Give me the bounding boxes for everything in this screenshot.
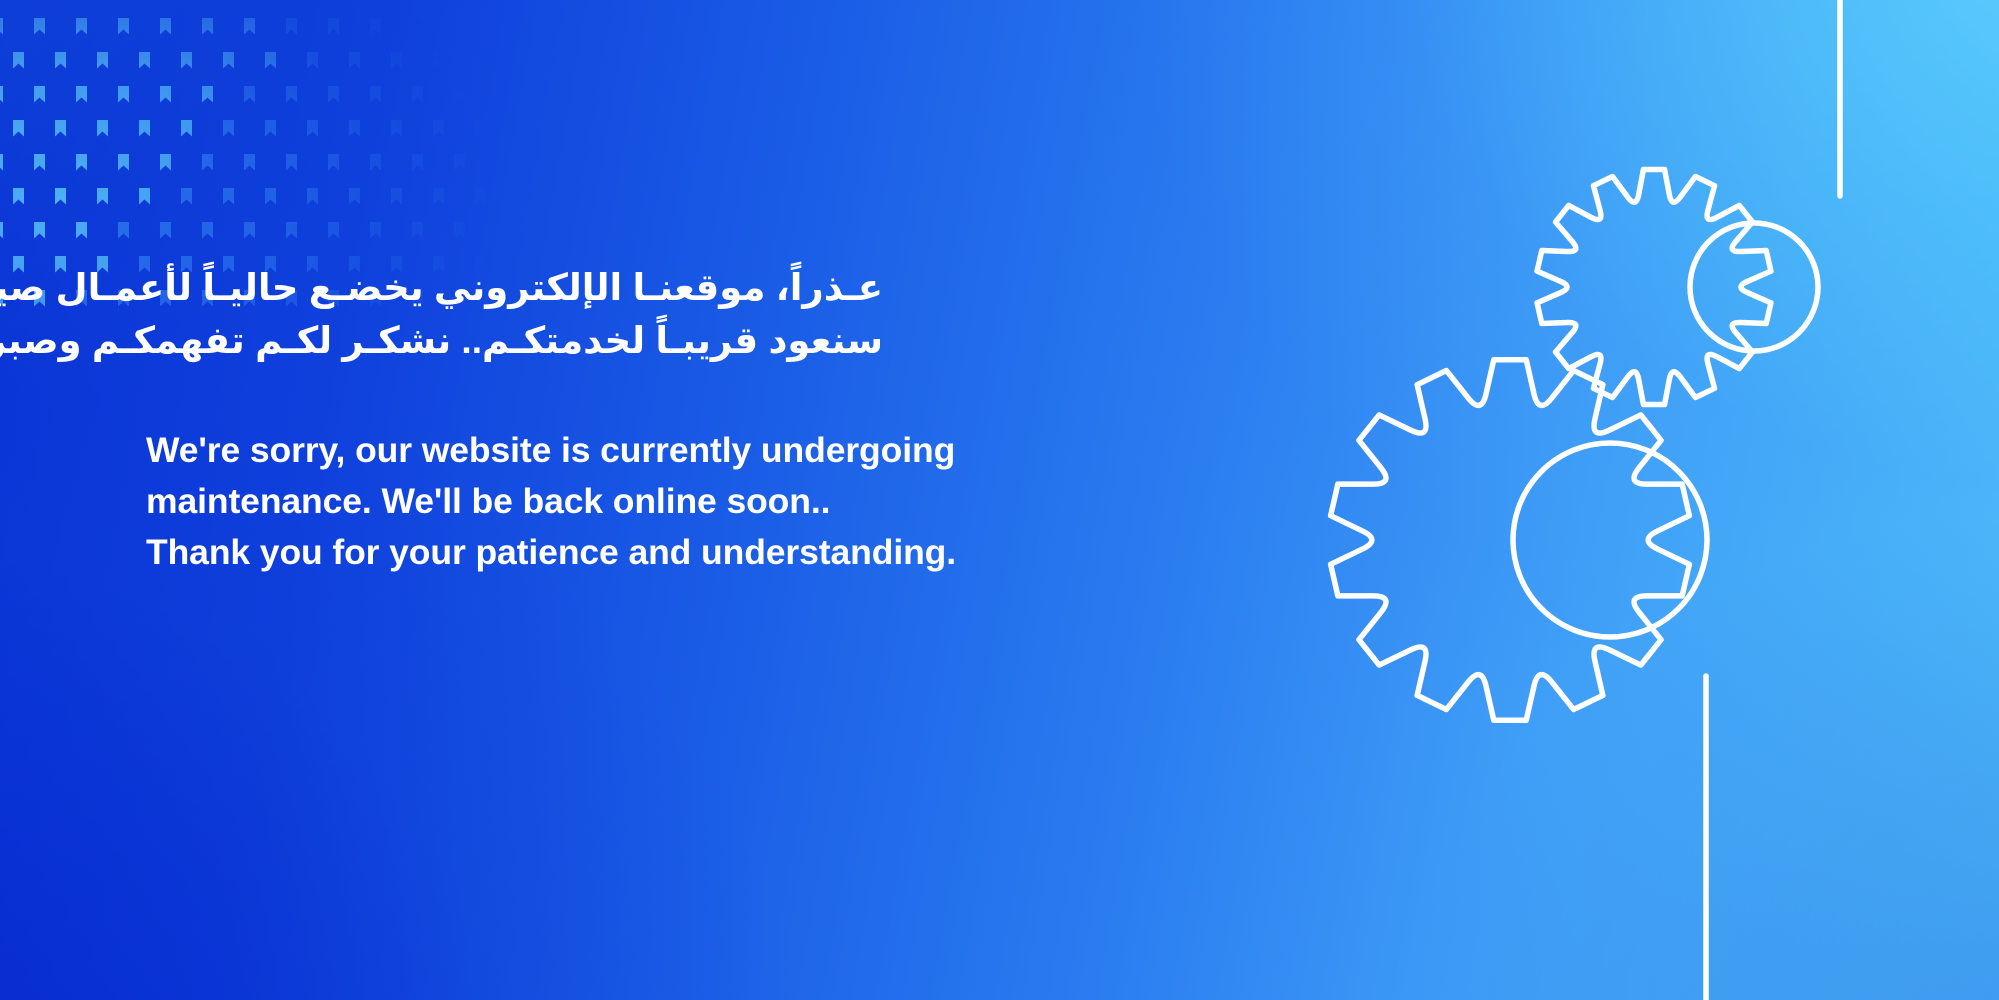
english-line-3: Thank you for your patience and understa… — [146, 527, 1026, 578]
arabic-message: عـذراً، موقعنـا الإلكتروني يخضـع حاليـاً… — [146, 262, 883, 367]
maintenance-page: عـذراً، موقعنـا الإلكتروني يخضـع حاليـاً… — [0, 0, 1999, 1000]
english-line-1: We're sorry, our website is currently un… — [146, 425, 1026, 476]
english-message: We're sorry, our website is currently un… — [146, 425, 1026, 577]
arabic-line-2: سنعود قريبـاً لخدمتكـم.. نشكـر لكـم تفهم… — [146, 315, 883, 368]
message-content: عـذراً، موقعنـا الإلكتروني يخضـع حاليـاً… — [146, 262, 1026, 577]
arabic-line-1: عـذراً، موقعنـا الإلكتروني يخضـع حاليـاً… — [146, 262, 883, 315]
english-line-2: maintenance. We'll be back online soon.. — [146, 476, 1026, 527]
